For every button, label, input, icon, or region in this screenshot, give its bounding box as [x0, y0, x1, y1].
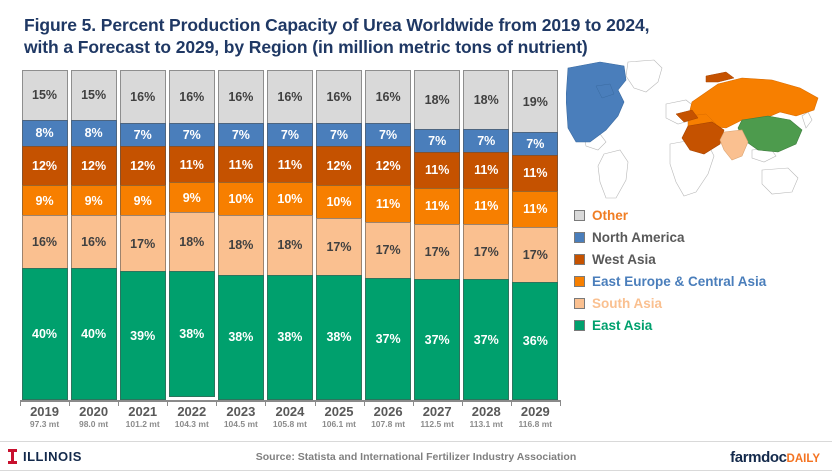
bar-segment[interactable]: 36%: [512, 282, 558, 400]
bar-column-2019[interactable]: 15%8%12%9%16%40%: [20, 70, 69, 400]
bar-segment-label: 8%: [36, 126, 54, 140]
bar-segment-label: 11%: [278, 158, 302, 172]
bar-segment[interactable]: 7%: [414, 129, 460, 152]
bar-segment-label: 10%: [326, 195, 351, 209]
legend-item-north-america[interactable]: North America: [574, 226, 824, 248]
bar-segment[interactable]: 19%: [512, 70, 558, 132]
bar-segment-label: 16%: [228, 90, 253, 104]
bar-segment-label: 38%: [228, 330, 253, 344]
bar-segment-label: 16%: [179, 90, 204, 104]
legend-label: North America: [592, 230, 685, 245]
legend-swatch-icon: [574, 232, 585, 243]
bar-segment[interactable]: 17%: [512, 227, 558, 283]
bar-segment[interactable]: 15%: [71, 70, 117, 120]
bar-segment-label: 11%: [523, 166, 547, 180]
bar-segment-label: 19%: [523, 95, 548, 109]
x-axis-label-2029: 2029116.8 mt: [511, 404, 560, 430]
bar-segment-label: 36%: [523, 334, 548, 348]
bar-segment[interactable]: 39%: [120, 271, 166, 400]
bar-segment-label: 7%: [232, 128, 250, 142]
bar-segment-label: 7%: [281, 128, 299, 142]
x-axis-year: 2024: [265, 404, 314, 419]
farmdoc-daily-logo: farmdocDAILY: [730, 449, 820, 466]
bar-segment[interactable]: 7%: [316, 123, 362, 146]
bar-column-2021[interactable]: 16%7%12%9%17%39%: [118, 70, 167, 400]
bar-segment[interactable]: 38%: [218, 275, 264, 400]
bar-segment-label: 9%: [134, 194, 152, 208]
bar-segment-label: 37%: [474, 333, 499, 347]
bar-segment[interactable]: 7%: [365, 123, 411, 146]
bar-segment[interactable]: 18%: [218, 215, 264, 274]
footer-divider-bottom: [0, 470, 832, 471]
bar-column-2029[interactable]: 19%7%11%11%17%36%: [511, 70, 560, 400]
bar-segment-label: 37%: [425, 333, 450, 347]
bar-segment-label: 12%: [130, 159, 155, 173]
x-axis-year: 2020: [69, 404, 118, 419]
bar-segment-label: 38%: [179, 327, 204, 341]
bar-segment-label: 7%: [183, 128, 201, 142]
bar-segment[interactable]: 9%: [120, 185, 166, 215]
x-axis-total: 101.2 mt: [118, 419, 167, 430]
bar-segment[interactable]: 10%: [218, 182, 264, 215]
x-axis-year: 2026: [364, 404, 413, 419]
x-axis-year: 2023: [216, 404, 265, 419]
x-axis-total: 98.0 mt: [69, 419, 118, 430]
bar-segment[interactable]: 40%: [22, 268, 68, 400]
x-axis-label-2024: 2024105.8 mt: [265, 404, 314, 430]
stacked-bar-plot: 15%8%12%9%16%40%15%8%12%9%16%40%16%7%12%…: [20, 70, 560, 400]
bar-segment-label: 18%: [179, 235, 204, 249]
x-axis-label-2025: 2025106.1 mt: [314, 404, 363, 430]
bar-segment[interactable]: 16%: [22, 215, 68, 268]
legend-item-east-europe-central-asia[interactable]: East Europe & Central Asia: [574, 270, 824, 292]
x-axis-year: 2022: [167, 404, 216, 419]
bar-segment-label: 7%: [134, 128, 152, 142]
bar-segment[interactable]: 11%: [169, 146, 215, 182]
legend-label: East Europe & Central Asia: [592, 274, 766, 289]
bar-segment-label: 16%: [326, 90, 351, 104]
legend-swatch-icon: [574, 320, 585, 331]
bar-segment[interactable]: 18%: [463, 70, 509, 129]
bar-segment-label: 17%: [130, 237, 155, 251]
bar-segment-label: 38%: [277, 330, 302, 344]
legend-item-south-asia[interactable]: South Asia: [574, 292, 824, 314]
bar-segment-label: 17%: [326, 240, 351, 254]
bar-segment-label: 17%: [425, 245, 450, 259]
bar-segment[interactable]: 10%: [316, 185, 362, 218]
bar-segment-label: 11%: [474, 199, 498, 213]
title-line-1: Figure 5. Percent Production Capacity of…: [24, 15, 649, 35]
bar-segment-label: 18%: [425, 93, 450, 107]
bar-segment[interactable]: 9%: [71, 185, 117, 215]
legend-item-west-asia[interactable]: West Asia: [574, 248, 824, 270]
bar-segment-label: 15%: [32, 88, 57, 102]
bar-column-2025[interactable]: 16%7%12%10%17%38%: [314, 70, 363, 400]
bar-segment-label: 7%: [428, 134, 446, 148]
bar-segment-label: 15%: [81, 88, 106, 102]
bar-segment-label: 37%: [376, 332, 401, 346]
bar-segment[interactable]: 16%: [169, 70, 215, 123]
bar-segment[interactable]: 7%: [218, 123, 264, 146]
daily-wordmark: DAILY: [787, 453, 820, 465]
bar-segment[interactable]: 7%: [267, 123, 313, 146]
farmdoc-wordmark: farmdoc: [730, 449, 786, 466]
bar-column-2020[interactable]: 15%8%12%9%16%40%: [69, 70, 118, 400]
bar-segment[interactable]: 16%: [120, 70, 166, 123]
bar-segment[interactable]: 40%: [71, 268, 117, 400]
legend-swatch-icon: [574, 210, 585, 221]
bar-segment-label: 17%: [523, 248, 548, 262]
bar-segment[interactable]: 11%: [512, 191, 558, 227]
x-axis-total: 113.1 mt: [462, 419, 511, 430]
bar-segment-label: 11%: [376, 197, 400, 211]
x-axis-total: 104.3 mt: [167, 419, 216, 430]
bar-segment-label: 7%: [477, 134, 495, 148]
bar-segment[interactable]: 12%: [365, 146, 411, 186]
bar-segment[interactable]: 11%: [463, 152, 509, 188]
bar-column-2024[interactable]: 16%7%11%10%18%38%: [265, 70, 314, 400]
x-axis-label-2020: 202098.0 mt: [69, 404, 118, 430]
bar-segment-label: 12%: [81, 159, 106, 173]
legend-label: West Asia: [592, 252, 656, 267]
x-axis-total: 104.5 mt: [216, 419, 265, 430]
bar-segment[interactable]: 12%: [22, 146, 68, 186]
x-axis-labels: 201997.3 mt202098.0 mt2021101.2 mt202210…: [20, 404, 560, 430]
x-axis-total: 112.5 mt: [413, 419, 462, 430]
bar-segment[interactable]: 12%: [71, 146, 117, 186]
bar-segment-label: 18%: [228, 238, 253, 252]
bar-segment[interactable]: 7%: [512, 132, 558, 155]
x-axis-year: 2021: [118, 404, 167, 419]
bar-segment-label: 11%: [474, 163, 498, 177]
bar-segment-label: 17%: [376, 243, 401, 257]
bar-segment-label: 11%: [523, 202, 547, 216]
bar-segment[interactable]: 17%: [120, 215, 166, 271]
x-axis-label-2026: 2026107.8 mt: [364, 404, 413, 430]
bar-segment-label: 12%: [32, 159, 57, 173]
bar-segment-label: 9%: [36, 194, 54, 208]
bar-segment[interactable]: 10%: [267, 182, 313, 215]
x-axis-total: 116.8 mt: [511, 419, 560, 430]
bar-segment[interactable]: 37%: [414, 279, 460, 400]
bar-segment-label: 11%: [425, 163, 449, 177]
x-axis-year: 2029: [511, 404, 560, 419]
bar-segment[interactable]: 9%: [22, 185, 68, 215]
bar-segment[interactable]: 11%: [512, 155, 558, 191]
world-region-map: [566, 58, 832, 203]
x-axis-tick: [560, 400, 561, 406]
x-axis-label-2028: 2028113.1 mt: [462, 404, 511, 430]
bar-segment-label: 7%: [379, 128, 397, 142]
bar-segment[interactable]: 11%: [414, 152, 460, 188]
legend-swatch-icon: [574, 254, 585, 265]
bar-segment[interactable]: 18%: [267, 215, 313, 274]
title-line-2: with a Forecast to 2029, by Region (in m…: [24, 36, 814, 58]
bar-segment[interactable]: 16%: [316, 70, 362, 123]
bar-segment-label: 40%: [81, 327, 106, 341]
x-axis-year: 2028: [462, 404, 511, 419]
x-axis-total: 105.8 mt: [265, 419, 314, 430]
legend-item-east-asia[interactable]: East Asia: [574, 314, 824, 336]
bar-segment-label: 16%: [81, 235, 106, 249]
bar-segment[interactable]: 38%: [316, 275, 362, 400]
bar-segment[interactable]: 8%: [71, 120, 117, 146]
source-note: Source: Statista and International Ferti…: [0, 451, 832, 463]
bar-segment[interactable]: 11%: [218, 146, 264, 182]
bar-segment[interactable]: 12%: [316, 146, 362, 186]
x-axis-year: 2019: [20, 404, 69, 419]
x-axis-label-2027: 2027112.5 mt: [413, 404, 462, 430]
x-axis-total: 106.1 mt: [314, 419, 363, 430]
bar-column-2027[interactable]: 18%7%11%11%17%37%: [413, 70, 462, 400]
bar-segment-label: 11%: [180, 158, 204, 172]
bar-segment-label: 16%: [130, 90, 155, 104]
bar-segment[interactable]: 8%: [22, 120, 68, 146]
bar-column-2022[interactable]: 16%7%11%9%18%38%: [167, 70, 216, 400]
bar-segment[interactable]: 16%: [218, 70, 264, 123]
legend-swatch-icon: [574, 276, 585, 287]
bar-segment[interactable]: 37%: [365, 278, 411, 400]
bar-segment-label: 11%: [425, 199, 449, 213]
bar-segment[interactable]: 15%: [22, 70, 68, 120]
legend-label: South Asia: [592, 296, 662, 311]
bar-column-2026[interactable]: 16%7%12%11%17%37%: [364, 70, 413, 400]
bar-segment-label: 16%: [32, 235, 57, 249]
bar-segment[interactable]: 7%: [169, 123, 215, 146]
bar-segment-label: 40%: [32, 327, 57, 341]
bar-segment[interactable]: 17%: [365, 222, 411, 278]
bar-column-2023[interactable]: 16%7%11%10%18%38%: [216, 70, 265, 400]
bar-segment-label: 8%: [85, 126, 103, 140]
page-title: Figure 5. Percent Production Capacity of…: [24, 14, 814, 58]
bar-segment-label: 17%: [474, 245, 499, 259]
x-axis-year: 2027: [413, 404, 462, 419]
bar-segment-label: 7%: [526, 137, 544, 151]
bar-segment[interactable]: 7%: [463, 129, 509, 152]
bar-segment-label: 11%: [229, 158, 253, 172]
bar-segment[interactable]: 11%: [463, 188, 509, 224]
bar-segment-label: 9%: [85, 194, 103, 208]
bar-segment[interactable]: 18%: [169, 212, 215, 271]
bar-segment[interactable]: 7%: [120, 123, 166, 146]
bar-segment[interactable]: 11%: [267, 146, 313, 182]
chart-legend: OtherNorth AmericaWest AsiaEast Europe &…: [574, 204, 824, 336]
bar-segment-label: 12%: [326, 159, 351, 173]
bar-segment[interactable]: 9%: [169, 182, 215, 212]
bar-segment[interactable]: 38%: [267, 275, 313, 400]
chart-page: Figure 5. Percent Production Capacity of…: [0, 0, 832, 472]
x-axis-total: 97.3 mt: [20, 419, 69, 430]
x-axis-year: 2025: [314, 404, 363, 419]
bar-segment[interactable]: 17%: [414, 224, 460, 280]
x-axis-label-2021: 2021101.2 mt: [118, 404, 167, 430]
bar-segment-label: 10%: [228, 192, 253, 206]
bar-segment-label: 7%: [330, 128, 348, 142]
legend-label: East Asia: [592, 318, 652, 333]
footer-divider-top: [0, 441, 832, 442]
x-axis-total: 107.8 mt: [364, 419, 413, 430]
x-axis-label-2022: 2022104.3 mt: [167, 404, 216, 430]
bar-segment[interactable]: 38%: [169, 271, 215, 396]
bar-segment-label: 38%: [326, 330, 351, 344]
bar-segment-label: 39%: [130, 329, 155, 343]
bar-segment[interactable]: 11%: [365, 185, 411, 221]
bar-segment[interactable]: 17%: [463, 224, 509, 280]
bar-segment-label: 16%: [376, 90, 401, 104]
x-axis-label-2023: 2023104.5 mt: [216, 404, 265, 430]
bar-segment[interactable]: 16%: [71, 215, 117, 268]
legend-label: Other: [592, 208, 628, 223]
bar-segment-label: 12%: [376, 159, 401, 173]
bar-segment-label: 16%: [277, 90, 302, 104]
bar-segment[interactable]: 16%: [267, 70, 313, 123]
legend-swatch-icon: [574, 298, 585, 309]
bar-segment[interactable]: 17%: [316, 218, 362, 274]
bar-segment[interactable]: 18%: [414, 70, 460, 129]
bar-segment-label: 9%: [183, 191, 201, 205]
bar-segment[interactable]: 16%: [365, 70, 411, 123]
bar-column-2028[interactable]: 18%7%11%11%17%37%: [462, 70, 511, 400]
legend-item-other[interactable]: Other: [574, 204, 824, 226]
bar-segment[interactable]: 12%: [120, 146, 166, 186]
bar-segment-label: 18%: [277, 238, 302, 252]
bar-segment-label: 10%: [277, 192, 302, 206]
bar-segment[interactable]: 11%: [414, 188, 460, 224]
bar-segment[interactable]: 37%: [463, 279, 509, 400]
x-axis-label-2019: 201997.3 mt: [20, 404, 69, 430]
bar-segment-label: 18%: [474, 93, 499, 107]
